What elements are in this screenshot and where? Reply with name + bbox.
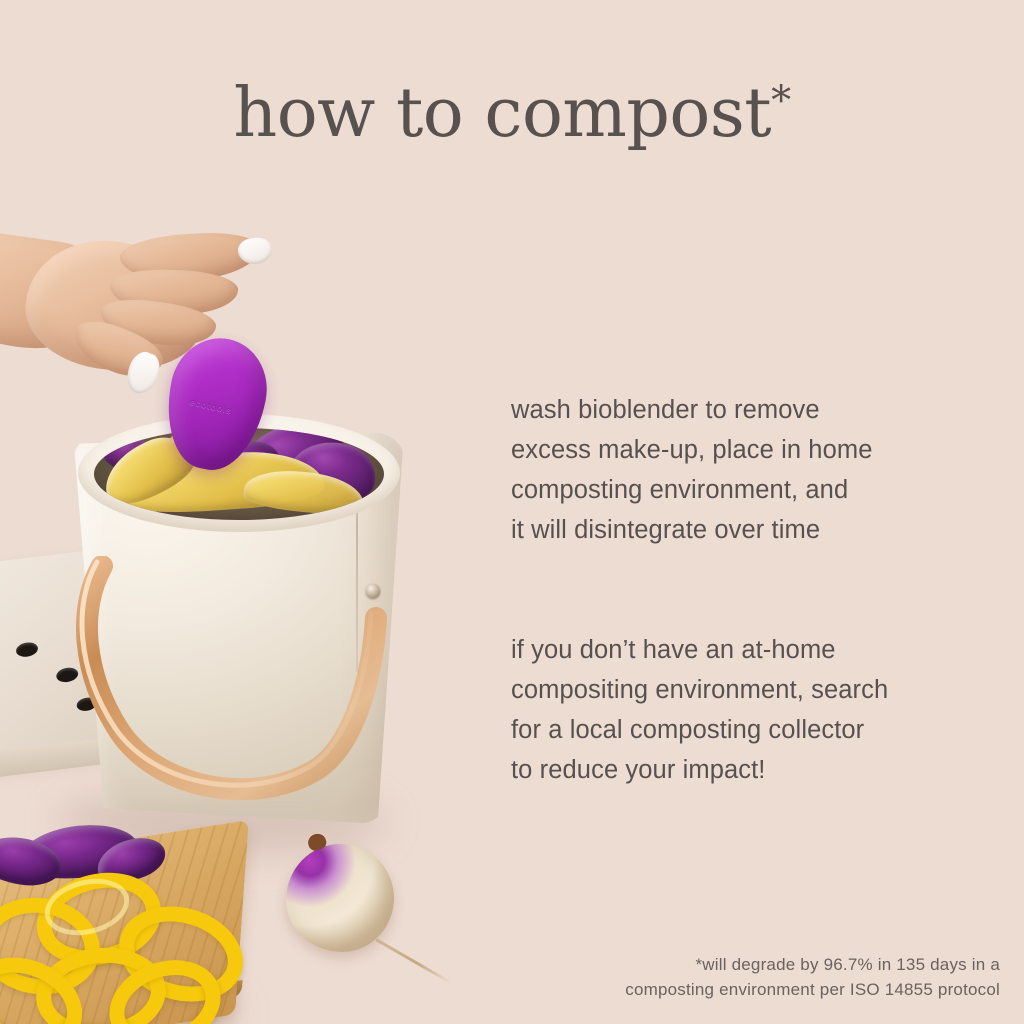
instruction-paragraph-1: wash bioblender to remove excess make-up… (511, 390, 981, 550)
turnip-root (375, 938, 451, 984)
ecotools-logo: ecotools (189, 396, 233, 415)
turnip (278, 832, 408, 1022)
paragraph-2-line: to reduce your impact! (511, 750, 981, 790)
lid-hole (16, 641, 38, 658)
paragraph-1-line: it will disintegrate over time (511, 510, 981, 550)
footnote-line: *will degrade by 96.7% in 135 days in a (540, 952, 1000, 977)
bamboo-compost-bin (74, 432, 404, 832)
product-photograph: ecotools (0, 0, 512, 1024)
paragraph-1-line: wash bioblender to remove (511, 390, 981, 430)
paragraph-2-line: if you don’t have an at-home (511, 630, 981, 670)
handle-rivet (366, 584, 380, 598)
paragraph-1-line: excess make-up, place in home (511, 430, 981, 470)
page-title-text: how to compost (233, 74, 771, 153)
page-title: how to compost* (0, 80, 1024, 148)
paragraph-2-line: for a local composting collector (511, 710, 981, 750)
title-asterisk: * (771, 78, 791, 124)
footnote-line: composting environment per ISO 14855 pro… (540, 977, 1000, 1002)
footnote-disclaimer: *will degrade by 96.7% in 135 days in a … (540, 952, 1000, 1002)
paragraph-2-line: compositing environment, search (511, 670, 981, 710)
paragraph-1-line: composting environment, and (511, 470, 981, 510)
poster-canvas: ecotools how to compost* wash bioblender… (0, 0, 1024, 1024)
instruction-paragraph-2: if you don’t have an at-home compositing… (511, 630, 981, 790)
turnip-body (286, 844, 394, 952)
